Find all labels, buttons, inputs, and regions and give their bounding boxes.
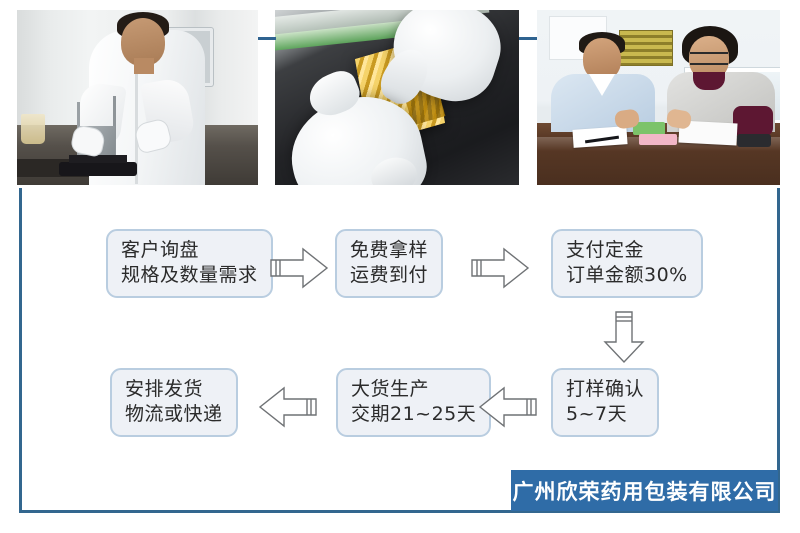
flow-step-line2: 交期21~25天 <box>351 402 476 427</box>
arrow-left-icon <box>258 385 318 429</box>
lab-technician-testing-photo <box>17 10 258 185</box>
arrow-left-icon <box>478 385 538 429</box>
flow-step-line1: 客户询盘 <box>121 238 258 263</box>
flow-step-line2: 5~7天 <box>566 402 644 427</box>
frame-left-border <box>19 188 22 513</box>
flow-step-deposit: 支付定金 订单金额30% <box>551 229 703 298</box>
flow-step-line2: 规格及数量需求 <box>121 263 258 288</box>
flow-step-line2: 物流或快递 <box>125 402 223 427</box>
flow-step-line2: 运费到付 <box>350 263 428 288</box>
flow-step-line2: 订单金额30% <box>566 263 688 288</box>
gold-foil-inspection-photo <box>275 10 519 185</box>
flow-step-inquiry: 客户询盘 规格及数量需求 <box>106 229 273 298</box>
flow-step-line1: 安排发货 <box>125 377 223 402</box>
flow-step-line1: 免费拿样 <box>350 238 428 263</box>
photo-divider-tick <box>258 37 276 40</box>
client-meeting-photo <box>537 10 780 185</box>
company-name-banner: 广州欣荣药用包装有限公司 <box>511 470 778 511</box>
frame-right-border <box>777 188 780 513</box>
flow-step-production: 大货生产 交期21~25天 <box>336 368 491 437</box>
arrow-down-icon <box>602 310 646 364</box>
flow-step-proofing: 打样确认 5~7天 <box>551 368 659 437</box>
flow-step-line1: 支付定金 <box>566 238 688 263</box>
process-flow-page: 客户询盘 规格及数量需求 免费拿样 运费到付 支付定金 订单金额30% 打样确认… <box>0 0 800 533</box>
flow-step-line1: 打样确认 <box>566 377 644 402</box>
flow-step-free-sample: 免费拿样 运费到付 <box>335 229 443 298</box>
flow-step-line1: 大货生产 <box>351 377 476 402</box>
company-name-text: 广州欣荣药用包装有限公司 <box>513 476 777 506</box>
arrow-right-icon <box>269 246 329 290</box>
arrow-right-icon <box>470 246 530 290</box>
flow-step-shipping: 安排发货 物流或快递 <box>110 368 238 437</box>
photo-divider-tick <box>519 37 537 40</box>
